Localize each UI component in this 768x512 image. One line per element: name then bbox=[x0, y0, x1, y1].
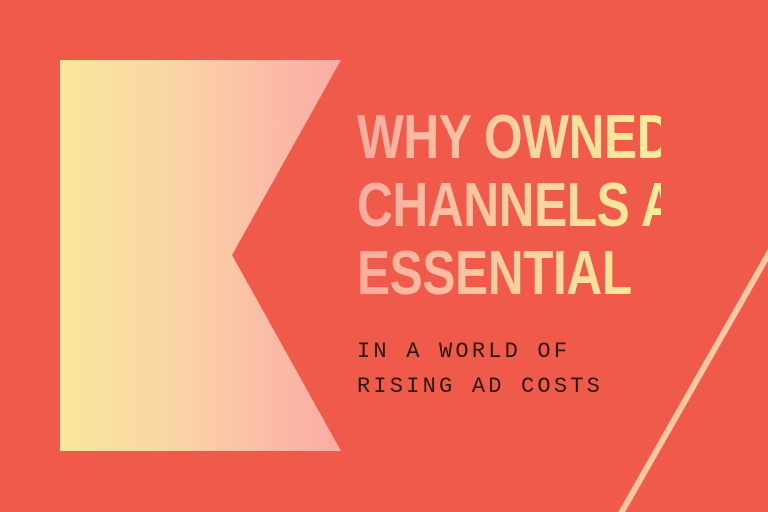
subhead-line-2: RISING AD COSTS bbox=[357, 369, 737, 404]
headline-line-3: ESSENTIAL bbox=[357, 240, 661, 308]
poster-canvas: WHY OWNED CHANNELS ARE ESSENTIAL IN A WO… bbox=[0, 0, 768, 512]
poster-text-block: WHY OWNED CHANNELS ARE ESSENTIAL IN A WO… bbox=[357, 104, 737, 404]
subhead-line-1: IN A WORLD OF bbox=[357, 334, 737, 369]
headline-line-1: WHY OWNED bbox=[357, 104, 661, 172]
headline-line-2: CHANNELS ARE bbox=[357, 172, 661, 240]
poster-subhead: IN A WORLD OF RISING AD COSTS bbox=[357, 308, 737, 404]
poster-headline: WHY OWNED CHANNELS ARE ESSENTIAL bbox=[357, 104, 661, 308]
